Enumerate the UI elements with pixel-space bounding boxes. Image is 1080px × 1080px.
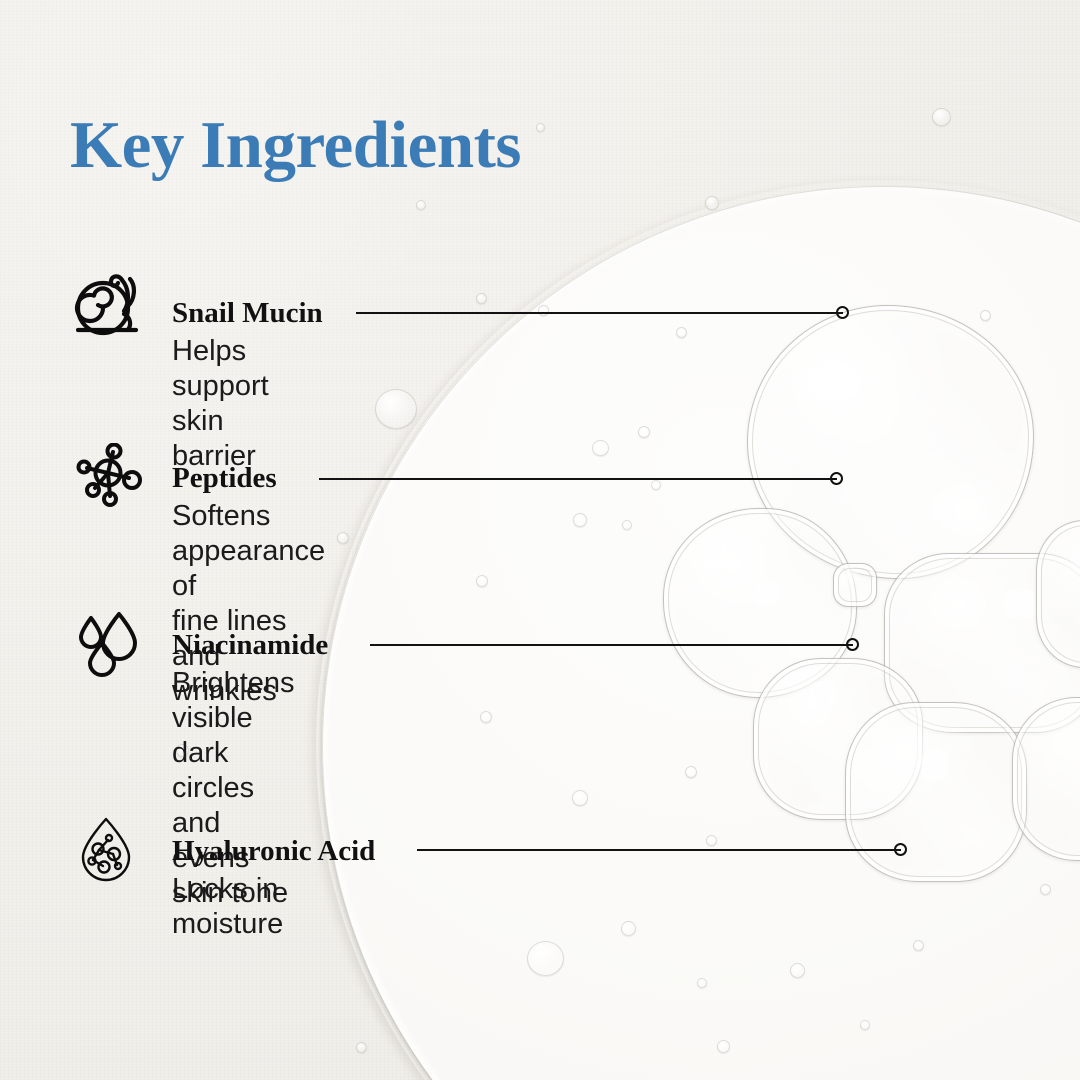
molecule-icon [72,443,152,509]
leader-endpoint-dot [836,306,849,319]
water-droplets-icon [72,612,152,678]
leader-line [319,478,837,480]
leader-line [356,312,843,314]
leader-line [370,644,853,646]
ingredient-name: Snail Mucin [172,299,323,328]
page-title: Key Ingredients [70,112,521,179]
leader-endpoint-dot [846,638,859,651]
snail-icon [72,272,152,338]
ingredient-name: Hyaluronic Acid [172,837,375,866]
ingredient-description: Helps support skin barrier [172,334,269,474]
leader-line [417,849,901,851]
leader-endpoint-dot [894,843,907,856]
ingredient-description: Locks in moisture [172,872,283,942]
ingredient-name: Peptides [172,464,277,493]
leader-endpoint-dot [830,472,843,485]
ingredient-infographic: Key Ingredients Snail Mucin Helps suppor… [0,0,1080,1080]
ingredient-name: Niacinamide [172,631,328,660]
droplet-molecule-icon [72,816,152,882]
